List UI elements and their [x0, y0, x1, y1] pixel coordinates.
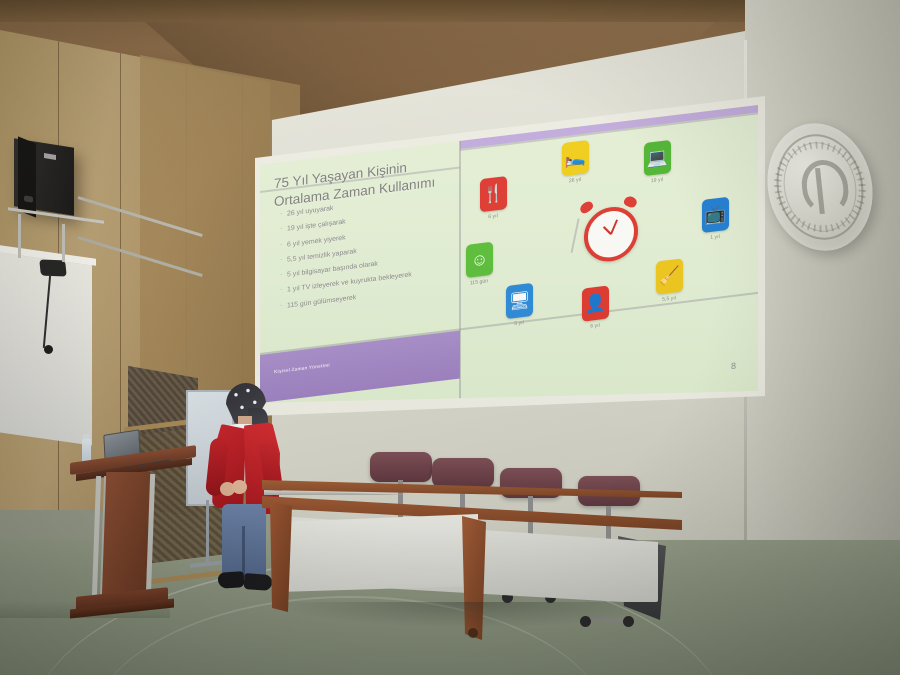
cutlery-icon-label: 6 yıl [473, 211, 513, 222]
cleaning-glyph: 🧹 [656, 258, 683, 294]
tv-icon: 📺 [702, 197, 729, 233]
railing-post [18, 214, 21, 258]
slide-icon-grid: 🍴 6 yıl 🛌 26 yıl 💻 19 yıl 📺 1 yıl ☺ 115 … [466, 113, 758, 355]
table-cable-grommet [468, 628, 478, 638]
chair-backrest [370, 452, 432, 482]
cutlery-glyph: 🍴 [480, 176, 507, 212]
cleaning-icon: 🧹 [656, 258, 683, 294]
bed-icon-label: 26 yıl [555, 175, 595, 186]
person-icon-label: 6 yıl [575, 321, 615, 332]
lecture-hall-photo: 75 Yıl Yaşayan Kişinin Ortalama Zaman Ku… [0, 0, 900, 675]
railing-post [62, 224, 65, 262]
alarm-clock-bell-left [578, 199, 594, 215]
desk-work-glyph: 💻 [644, 140, 671, 176]
tv-glyph: 📺 [702, 197, 729, 233]
computer-icon: 🖥 [506, 283, 533, 319]
smiley-icon: ☺ [466, 242, 493, 278]
emblem-logo-mark [795, 159, 845, 214]
presenter-leg-seam [242, 526, 245, 578]
panel-table-area [262, 452, 702, 675]
alarm-clock-bell-right [622, 195, 638, 209]
desk-work-icon: 💻 [644, 140, 671, 176]
person-icon: 👤 [582, 285, 609, 321]
cleaning-icon-label: 5,5 yıl [649, 294, 689, 305]
water-bottle-cap [83, 434, 90, 439]
wall-speaker-port [24, 195, 33, 202]
presenter-hand-right [232, 480, 247, 494]
wall-speaker-side [18, 136, 36, 217]
lectern-column [102, 472, 150, 600]
bed-glyph: 🛌 [562, 140, 589, 176]
slide-footer-text: Kişisel Zaman Yönetimi [274, 362, 330, 374]
alarm-clock-icon [584, 204, 638, 265]
microphone-tip [44, 345, 53, 354]
chair-backrest [432, 458, 494, 488]
slide-page-number: 8 [731, 361, 736, 372]
slide-bullet-list: 26 yıl uyuyarak 19 yıl işte çalışarak 6 … [280, 188, 476, 319]
table-floor-shadow [272, 602, 672, 628]
presenter-boot-left [217, 571, 244, 589]
microphone-clip [39, 259, 67, 276]
computer-glyph: 🖥 [506, 283, 533, 319]
smiley-glyph: ☺ [466, 242, 493, 278]
white-wall-right-corner [745, 0, 900, 600]
person-glyph: 👤 [582, 285, 609, 321]
bed-icon: 🛌 [562, 140, 589, 176]
lectern [70, 432, 204, 610]
computer-icon-label: 5 yıl [499, 318, 539, 329]
desk-work-icon-label: 19 yıl [637, 175, 677, 186]
cutlery-icon: 🍴 [480, 176, 507, 212]
table-leg [270, 502, 292, 612]
tv-icon-label: 1 yıl [695, 232, 735, 243]
